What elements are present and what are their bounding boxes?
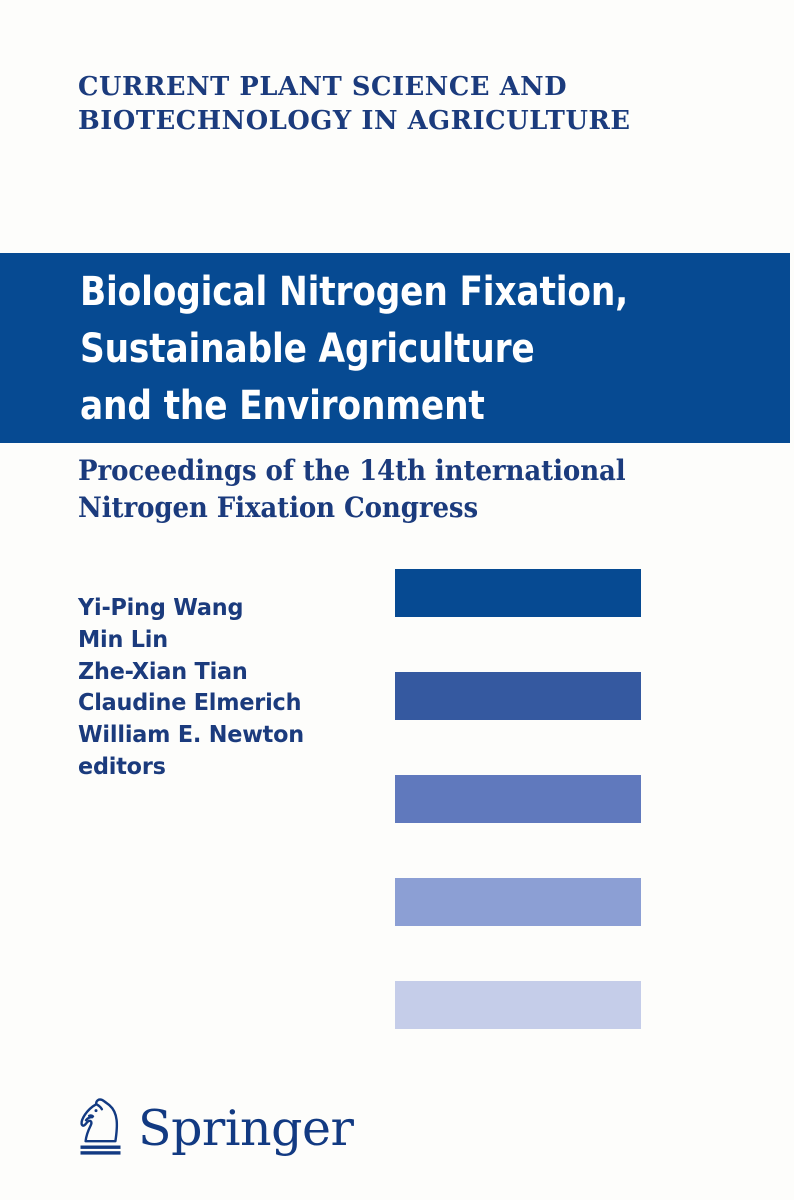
editor-name: Yi-Ping Wang	[78, 592, 363, 624]
book-title-line-2: Sustainable Agriculture	[80, 321, 673, 378]
series-title-line-1: Current Plant Science and	[78, 70, 718, 104]
book-title: Biological Nitrogen Fixation, Sustainabl…	[80, 264, 673, 435]
book-cover: Current Plant Science and Biotechnology …	[0, 0, 794, 1200]
publisher-name: Springer	[138, 1104, 353, 1153]
book-subtitle-line-2: Nitrogen Fixation Congress	[78, 489, 692, 526]
series-title: Current Plant Science and Biotechnology …	[78, 70, 718, 138]
editor-list: Yi-Ping Wang Min Lin Zhe-Xian Tian Claud…	[78, 592, 363, 783]
publisher-logo: Springer	[74, 1095, 353, 1157]
springer-knight-icon	[74, 1095, 132, 1157]
book-subtitle-line-1: Proceedings of the 14th international	[78, 452, 692, 489]
title-band: Biological Nitrogen Fixation, Sustainabl…	[0, 253, 790, 443]
book-title-line-1: Biological Nitrogen Fixation,	[80, 264, 673, 321]
decorative-bar	[395, 569, 641, 617]
editor-name: Zhe-Xian Tian	[78, 656, 363, 688]
editors-role-label: editors	[78, 751, 363, 783]
decorative-bar	[395, 775, 641, 823]
editor-name: Claudine Elmerich	[78, 687, 363, 719]
book-subtitle: Proceedings of the 14th international Ni…	[78, 452, 692, 526]
book-title-line-3: and the Environment	[80, 378, 673, 435]
editor-name: William E. Newton	[78, 719, 363, 751]
series-title-line-2: Biotechnology in Agriculture	[78, 104, 718, 138]
decorative-bar-group	[395, 569, 641, 1034]
decorative-bar	[395, 672, 641, 720]
decorative-bar	[395, 981, 641, 1029]
decorative-bar	[395, 878, 641, 926]
editor-name: Min Lin	[78, 624, 363, 656]
